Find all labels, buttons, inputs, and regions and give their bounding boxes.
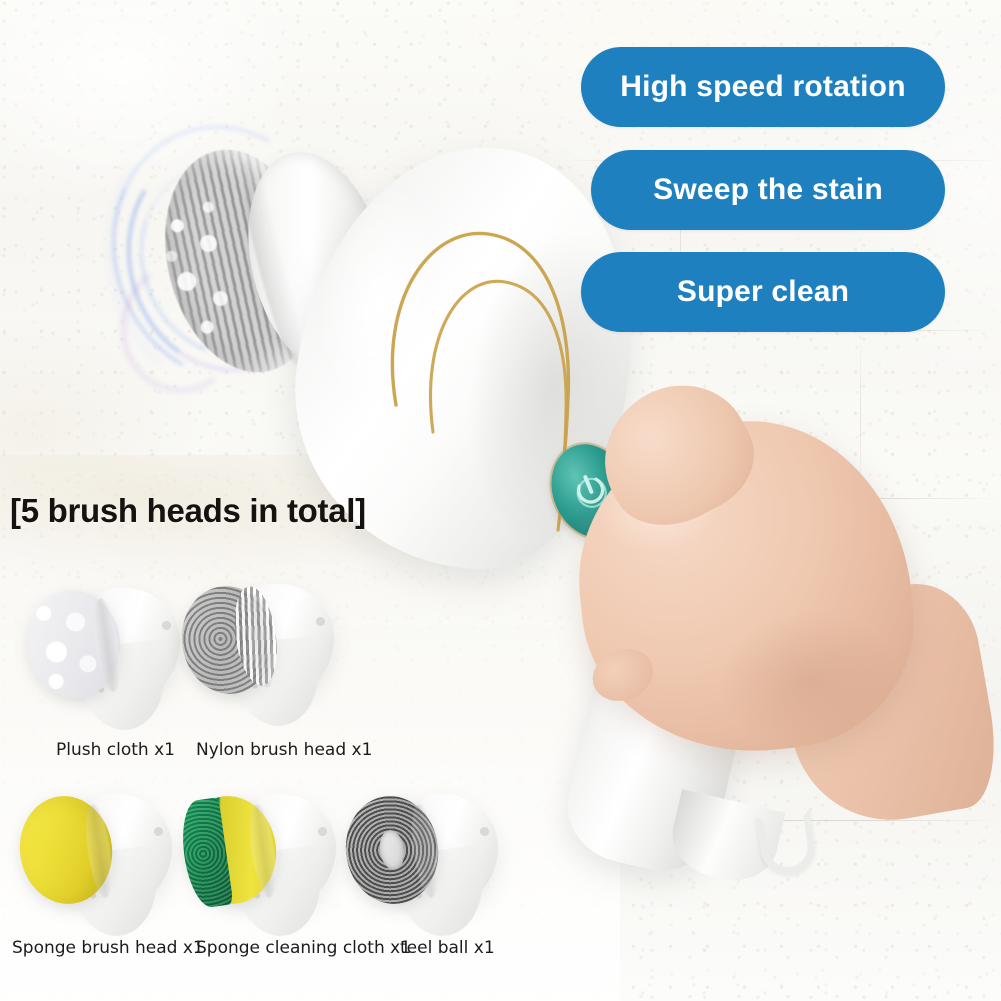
feature-pill-high-speed-rotation: High speed rotation	[581, 47, 945, 127]
brush-head-label: teel ball x1	[400, 938, 495, 958]
hand-holding-device	[556, 382, 928, 802]
brush-head-sponge-cloth	[178, 778, 358, 948]
feature-pill-sweep-the-stain: Sweep the stain	[591, 150, 945, 230]
brush-head-label: Sponge cleaning cloth x1	[196, 938, 411, 958]
brush-head-label: Nylon brush head x1	[196, 740, 372, 760]
gallery-title: [5 brush heads in total]	[10, 492, 366, 530]
brush-head-steel-ball	[340, 778, 520, 948]
brush-head-label: Plush cloth x1	[56, 740, 175, 760]
brush-head-sponge	[14, 778, 194, 948]
feature-pill-super-clean: Super clean	[581, 252, 945, 332]
brush-head-label: Sponge brush head x1	[12, 938, 204, 958]
brush-head-nylon	[176, 568, 356, 743]
product-marketing-image: [5 brush heads in total] Plush cloth x1 …	[0, 0, 1001, 1001]
brush-head-plush-cloth	[22, 572, 202, 742]
